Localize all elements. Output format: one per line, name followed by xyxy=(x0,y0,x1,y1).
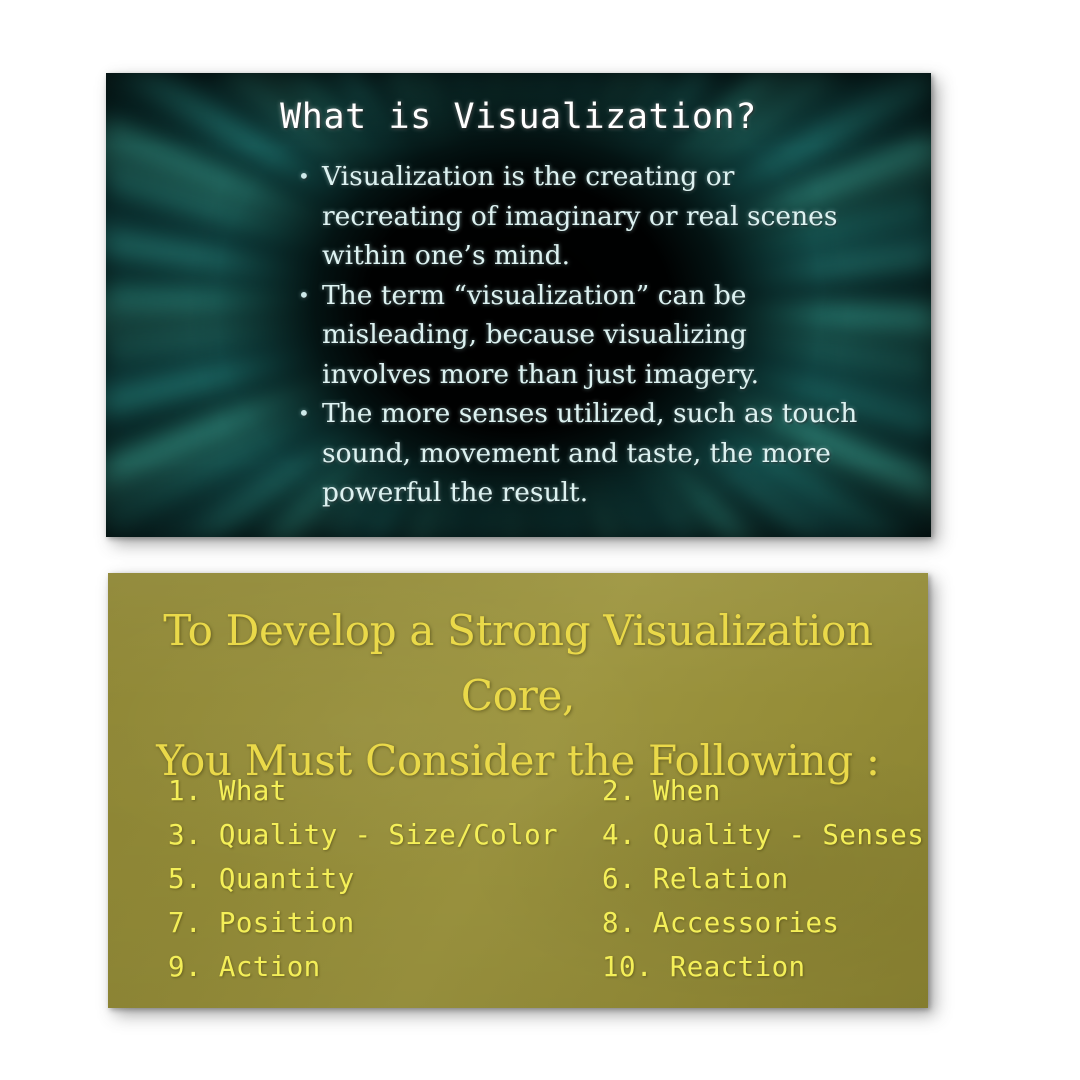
checklist-item: 4. Quality - Senses xyxy=(558,813,924,857)
checklist-item: 1. What xyxy=(164,769,558,813)
checklist-item: 5. Quantity xyxy=(164,857,558,901)
bullet-item: The more senses utilized, such as touch … xyxy=(298,394,858,513)
bullet-item: Visualization is the creating or recreat… xyxy=(298,157,858,276)
slide-one-bullet-list: Visualization is the creating or recreat… xyxy=(298,157,858,513)
slide-visualization-core-checklist: To Develop a Strong Visualization Core, … xyxy=(108,573,928,1008)
checklist-item: 3. Quality - Size/Color xyxy=(164,813,558,857)
checklist-item: 10. Reaction xyxy=(558,945,924,989)
slide-stage: What is Visualization? Visualization is … xyxy=(0,0,1080,1080)
checklist-item: 6. Relation xyxy=(558,857,924,901)
checklist-item: 2. When xyxy=(558,769,924,813)
slide-what-is-visualization: What is Visualization? Visualization is … xyxy=(106,73,931,537)
checklist-item: 8. Accessories xyxy=(558,901,924,945)
slide-two-title-line-1: To Develop a Strong Visualization Core, xyxy=(163,606,873,720)
slide-two-title: To Develop a Strong Visualization Core, … xyxy=(108,598,928,793)
checklist-item: 9. Action xyxy=(164,945,558,989)
bullet-item: The term “visualization” can be misleadi… xyxy=(298,276,858,395)
checklist-grid: 1. What 2. When 3. Quality - Size/Color … xyxy=(164,769,898,989)
checklist-item: 7. Position xyxy=(164,901,558,945)
slide-one-title: What is Visualization? xyxy=(106,97,931,137)
